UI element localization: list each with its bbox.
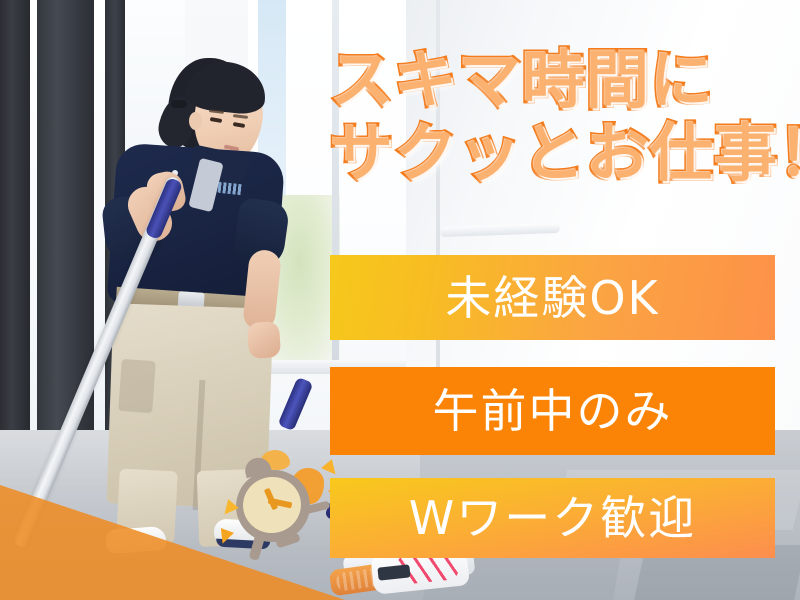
shoe-left [105,526,167,554]
recruitment-poster: スキマ時間に サクッとお仕事！ 未経験OK 午前中のみ Wワーク歓迎 [0,0,800,600]
feature-banner-2-label: 午前中のみ [433,388,673,434]
headline: スキマ時間に サクッとお仕事！ [330,46,790,189]
feature-banner-1: 未経験OK [330,255,775,340]
cargo-pocket [118,359,156,413]
ear [189,112,202,130]
feature-banner-3: Wワーク歓迎 [330,478,775,558]
feature-banner-1-label: 未経験OK [445,275,659,321]
company-logo-embroidery [217,182,242,195]
speed-mark-icon [321,459,341,479]
hair-tie [171,100,187,108]
headline-line-1: スキマ時間に [330,46,790,117]
headline-line-2: サクッとお仕事！ [330,119,790,190]
feature-banner-2: 午前中のみ [330,367,775,455]
clock-leg [249,533,266,561]
feature-banner-3-label: Wワーク歓迎 [409,495,696,541]
hand-right [247,321,281,359]
